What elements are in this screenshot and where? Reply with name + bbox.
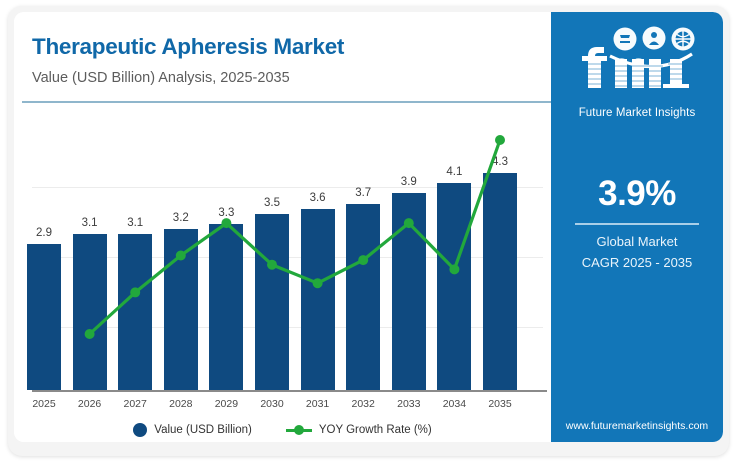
bar-value-label: 3.7 [340,187,386,199]
header-divider [22,101,551,103]
legend-line-icon [286,429,312,432]
legend-dot-icon [133,423,147,437]
x-tick-2030: 2030 [247,398,297,410]
x-tick-2035: 2035 [475,398,525,410]
legend-item-value[interactable]: Value (USD Billion) [133,423,252,437]
bar-value-label: 3.1 [67,217,113,229]
fmi-logo-icon [562,26,712,100]
bar-value-label: 3.2 [158,212,204,224]
bar-value-label: 3.1 [112,217,158,229]
legend-label: YOY Growth Rate (%) [319,424,432,436]
brand-panel: Future Market Insights 3.9% Global Marke… [551,12,723,442]
bar-value-label: 3.3 [203,207,249,219]
cagr-caption-line2: CAGR 2025 - 2035 [551,255,723,270]
chart-legend: Value (USD Billion) YOY Growth Rate (%) [14,423,551,437]
page-subtitle: Value (USD Billion) Analysis, 2025-2035 [32,70,290,86]
cagr-value: 3.9% [551,174,723,214]
cagr-caption-line1: Global Market [551,234,723,249]
bar-value-label: 2.9 [21,227,67,239]
x-axis-line [32,390,547,392]
cagr-divider [575,223,699,225]
x-tick-2028: 2028 [156,398,206,410]
x-tick-2026: 2026 [65,398,115,410]
bar-value-label: 3.6 [295,192,341,204]
bar-value-label: 4.1 [431,166,477,178]
legend-label: Value (USD Billion) [154,424,252,436]
bar-2033[interactable] [392,193,426,390]
x-tick-2027: 2027 [110,398,160,410]
bar-value-label: 3.9 [386,176,432,188]
x-tick-2034: 2034 [429,398,479,410]
bar-2025[interactable] [27,244,61,390]
chart-region: Therapeutic Apheresis Market Value (USD … [14,12,551,442]
legend-item-growth[interactable]: YOY Growth Rate (%) [286,424,432,436]
x-tick-2033: 2033 [384,398,434,410]
x-tick-2032: 2032 [338,398,388,410]
bar-value-label: 4.3 [477,156,523,168]
bar-2035[interactable] [483,173,517,390]
bar-value-label: 3.5 [249,197,295,209]
bar-2026[interactable] [73,234,107,390]
x-tick-2029: 2029 [201,398,251,410]
infographic-card: Therapeutic Apheresis Market Value (USD … [8,6,729,456]
bar-2031[interactable] [301,209,335,390]
x-tick-2031: 2031 [293,398,343,410]
brand-name: Future Market Insights [551,107,723,119]
bar-2027[interactable] [118,234,152,390]
page-title: Therapeutic Apheresis Market [32,34,344,60]
bar-2032[interactable] [346,204,380,390]
bar-2034[interactable] [437,183,471,390]
card-inner: Therapeutic Apheresis Market Value (USD … [14,12,723,442]
x-tick-2025: 2025 [19,398,69,410]
bar-2029[interactable] [209,224,243,390]
bar-2030[interactable] [255,214,289,390]
fmi-logo: Future Market Insights [551,26,723,119]
website-url[interactable]: www.futuremarketinsights.com [551,420,723,432]
bar-2028[interactable] [164,229,198,390]
